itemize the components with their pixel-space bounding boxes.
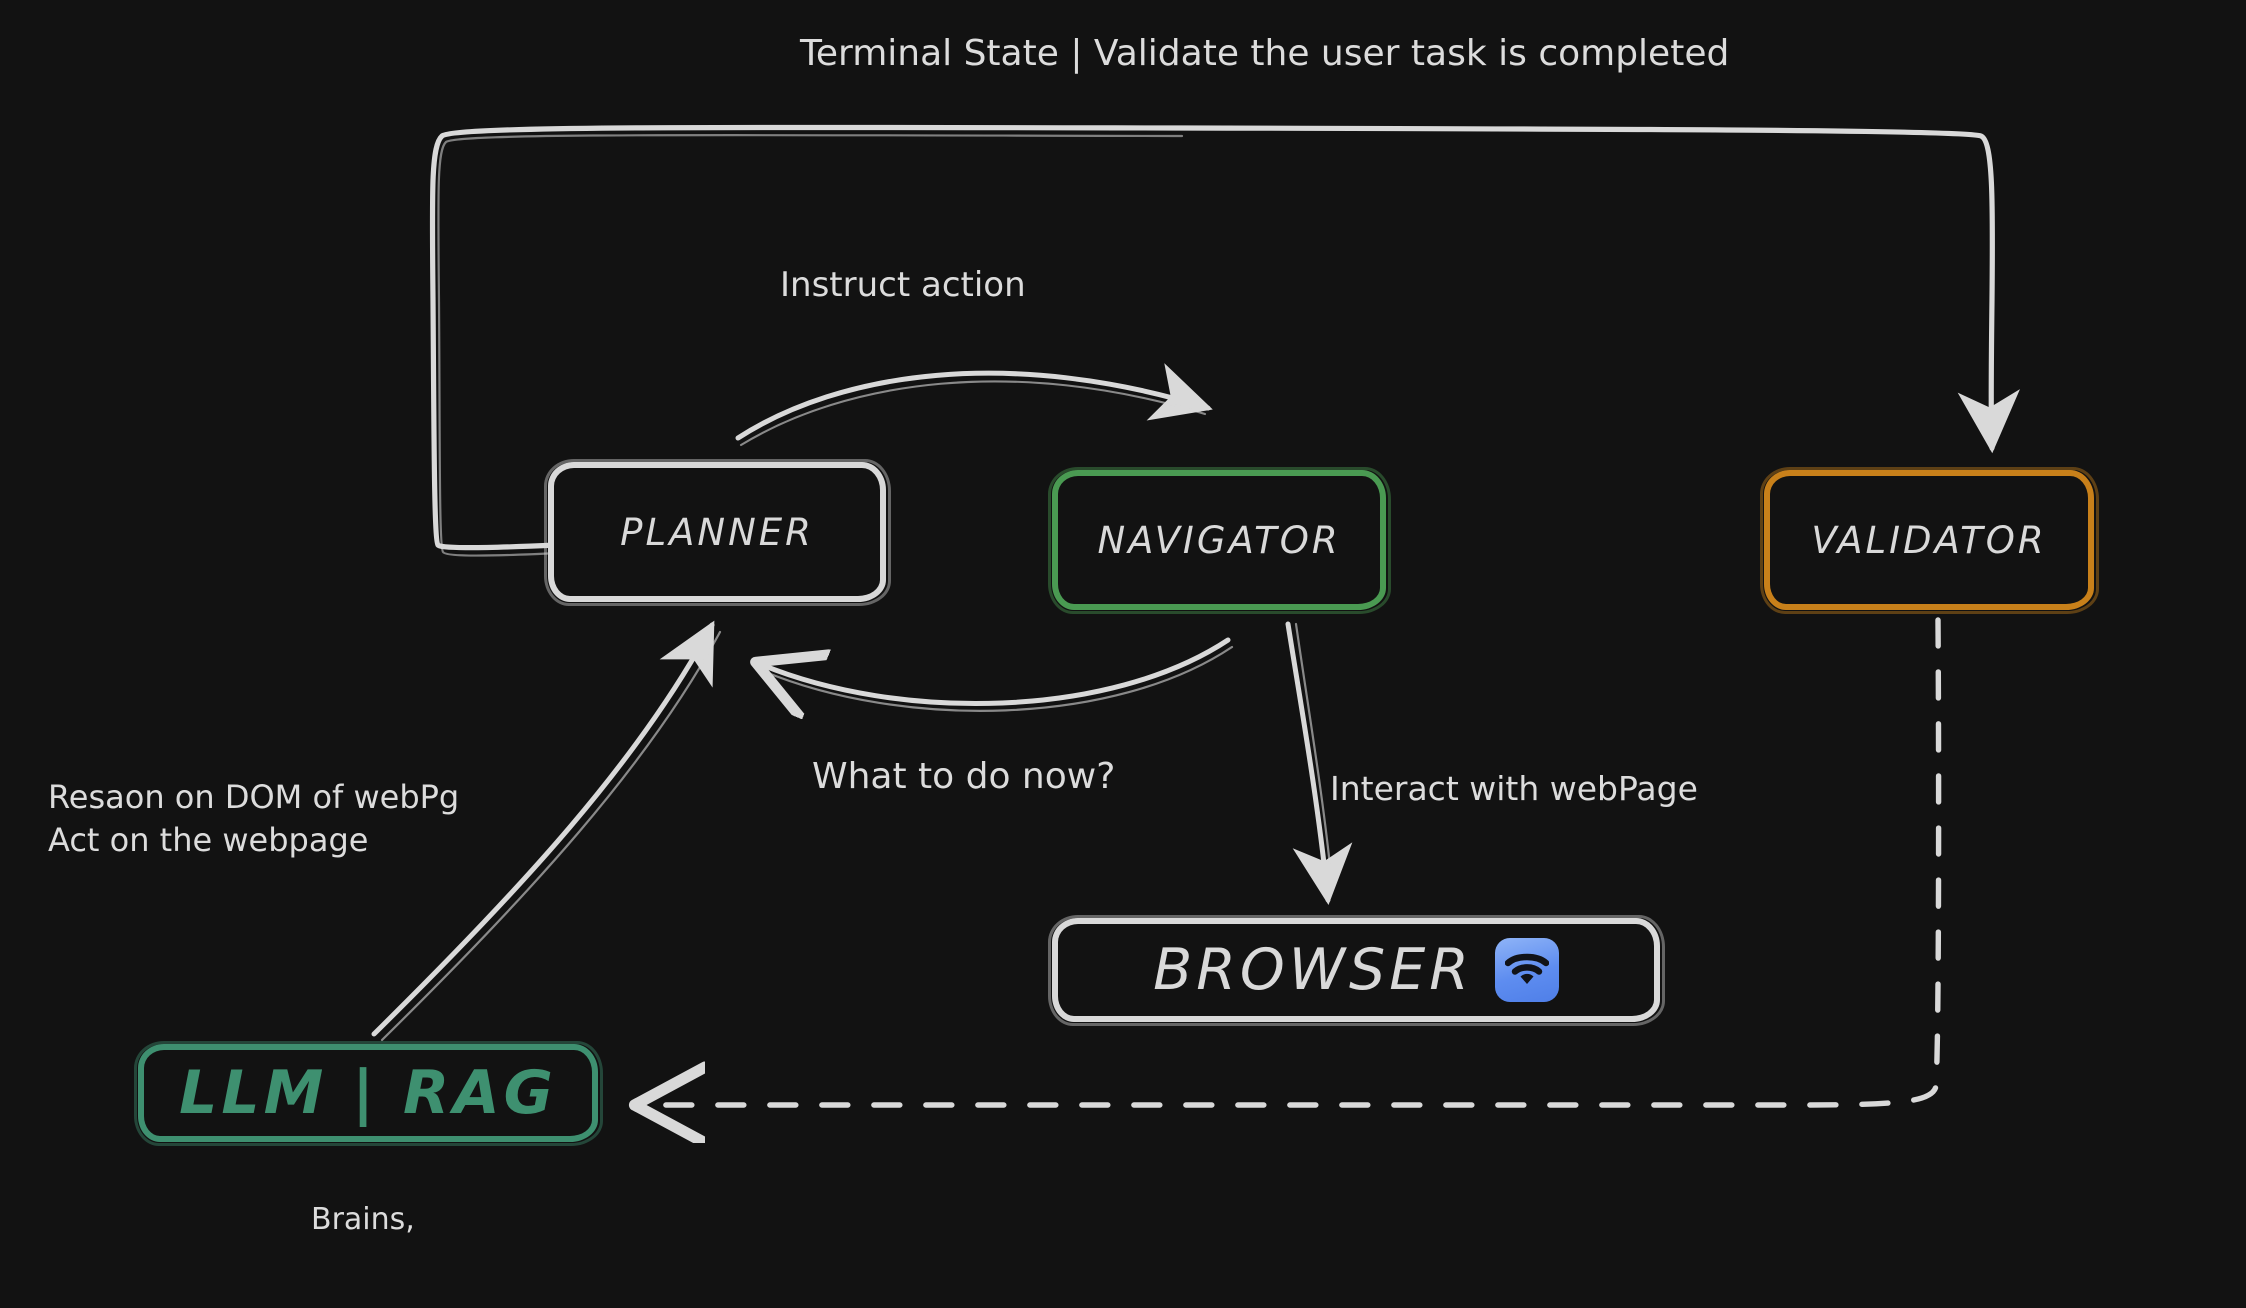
edge-navigator-to-planner xyxy=(760,640,1232,711)
edge-validator-to-llmrag xyxy=(640,620,1939,1105)
node-browser[interactable]: BROWSER xyxy=(1052,918,1660,1022)
edge-label-reason-line-2: Act on the webpage xyxy=(48,819,459,862)
wifi-icon xyxy=(1495,938,1559,1002)
diagram-canvas: Terminal State | Validate the user task … xyxy=(0,0,2246,1308)
caption-brains: Brains, xyxy=(311,1200,415,1240)
node-planner-label: PLANNER xyxy=(620,514,814,551)
node-browser-label: BROWSER xyxy=(1153,942,1473,999)
edge-planner-to-navigator xyxy=(738,373,1208,445)
node-validator[interactable]: VALIDATOR xyxy=(1764,470,2094,610)
edge-label-instruct-action: Instruct action xyxy=(780,263,1026,309)
edge-label-reason-act: Resaon on DOM of webPg Act on the webpag… xyxy=(48,776,459,862)
node-navigator[interactable]: NAVIGATOR xyxy=(1052,470,1386,610)
node-navigator-label: NAVIGATOR xyxy=(1097,522,1340,559)
edge-navigator-to-browser xyxy=(1288,624,1330,900)
node-planner[interactable]: PLANNER xyxy=(548,462,886,602)
edge-label-reason-line-1: Resaon on DOM of webPg xyxy=(48,776,459,819)
node-validator-label: VALIDATOR xyxy=(1811,522,2046,559)
node-llm-rag-label: LLM | RAG xyxy=(179,1063,557,1123)
edge-label-what-to-do-now: What to do now? xyxy=(812,753,1115,801)
browser-content: BROWSER xyxy=(1153,938,1559,1002)
diagram-title: Terminal State | Validate the user task … xyxy=(800,30,1729,78)
node-llm-rag[interactable]: LLM | RAG xyxy=(138,1044,598,1142)
edge-label-interact-with-webpage: Interact with webPage xyxy=(1330,767,1698,811)
